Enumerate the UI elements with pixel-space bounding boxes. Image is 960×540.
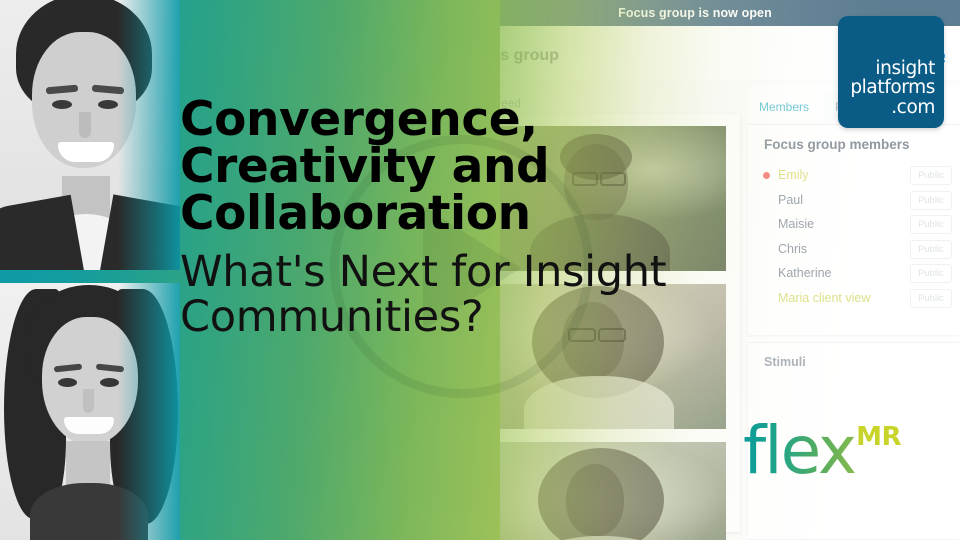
subtitle-line-1: What's Next for Insight — [180, 247, 666, 297]
status-badge[interactable]: Public — [910, 240, 952, 259]
subtitle-line-2: Communities? — [180, 292, 483, 342]
status-badge[interactable]: Public — [910, 215, 952, 234]
banner-text: Focus group is now open — [618, 6, 772, 20]
status-badge[interactable]: Public — [910, 166, 952, 185]
flexmr-superscript: MR — [856, 422, 901, 452]
title-line-3: Collaboration — [180, 186, 531, 241]
insight-platforms-logo-text: insight platforms .com — [850, 59, 935, 118]
speaker-photo-bottom — [0, 283, 180, 540]
video-thumbnail[interactable] — [468, 442, 726, 540]
status-badge[interactable]: Public — [910, 191, 952, 210]
flexmr-wordmark: flex — [743, 418, 855, 484]
title-block: Convergence, Creativity and Collaboratio… — [180, 96, 820, 340]
speaker-photo-top — [0, 0, 180, 270]
logo-line-3: .com — [850, 98, 935, 118]
logo-line-2: platforms — [850, 78, 935, 98]
page-title: Convergence, Creativity and Collaboratio… — [180, 96, 820, 237]
page-subtitle: What's Next for Insight Communities? — [180, 250, 820, 340]
status-badge[interactable]: Public — [910, 264, 952, 283]
presentation-slide: Focus group is now open Focus group ⚙ 👥 … — [0, 0, 960, 540]
insight-platforms-logo[interactable]: insight platforms .com — [838, 16, 944, 128]
status-badge[interactable]: Public — [910, 289, 952, 308]
flexmr-logo: flex MR — [743, 418, 901, 490]
stimuli-panel-title: Stimuli — [764, 355, 806, 369]
logo-line-1: insight — [850, 59, 935, 79]
